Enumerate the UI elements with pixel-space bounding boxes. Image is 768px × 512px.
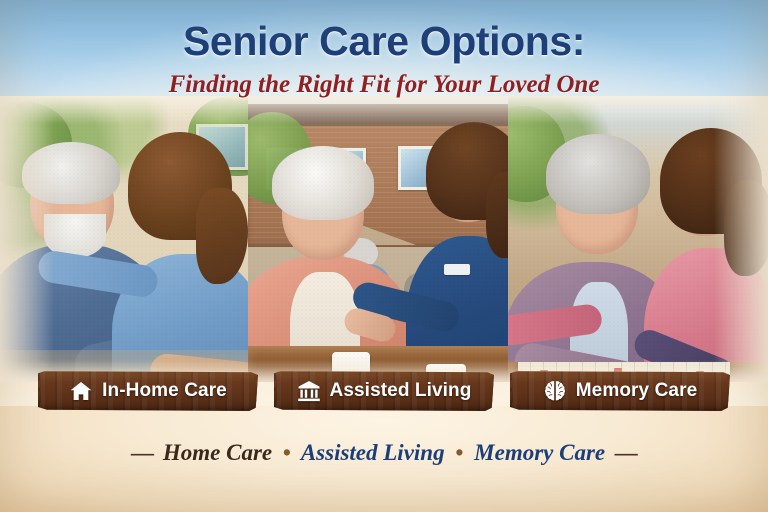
footer-caption: — Home Care • Assisted Living • Memory C… [0,440,768,466]
name-badge [444,264,470,275]
sign-label: Assisted Living [330,380,472,402]
plank-notch-left [267,379,277,403]
caption-item-memory-care: Memory Care [474,440,605,465]
plank-notch-right [727,379,737,403]
poster-canvas: Senior Care Options: Finding the Right F… [0,0,768,512]
plank-notch-right [255,379,265,403]
sign-label: Memory Care [576,380,697,402]
caption-dash-right: — [611,440,641,465]
heading-block: Senior Care Options: Finding the Right F… [0,0,768,99]
institution-icon [297,379,321,403]
sign-memory-care[interactable]: Memory Care [510,371,730,411]
house-icon [69,379,93,403]
plank-notch-right [491,379,501,403]
caption-item-assisted-living: Assisted Living [301,440,445,465]
sign-label: In-Home Care [102,380,227,402]
brain-icon [543,379,567,403]
sign-in-home-care[interactable]: In-Home Care [38,371,258,411]
caption-bullet: • [450,440,468,465]
page-subtitle: Finding the Right Fit for Your Loved One [0,71,768,99]
plank-notch-left [503,379,513,403]
sign-assisted-living[interactable]: Assisted Living [274,371,494,411]
page-title: Senior Care Options: [0,0,768,65]
caption-bullet: • [278,440,296,465]
caption-item-home-care: Home Care [163,440,272,465]
care-option-signs: In-Home Care Assisted Living [0,371,768,415]
caption-dash-left: — [127,440,157,465]
plank-notch-left [31,379,41,403]
